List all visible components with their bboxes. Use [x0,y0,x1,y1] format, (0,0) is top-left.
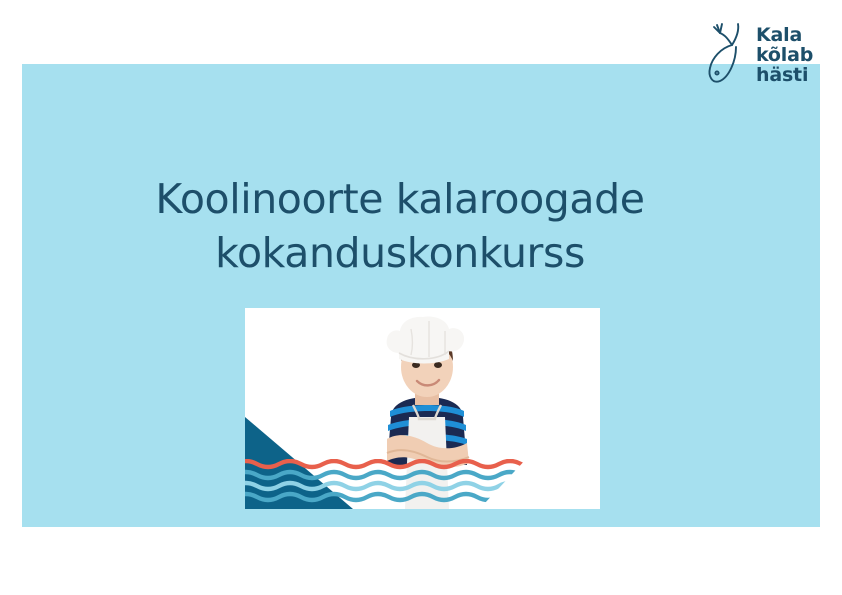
logo-line-2: kõlab [756,46,813,66]
wave-pattern [245,459,600,503]
page-title-line-1: Koolinoorte kalaroogade [90,172,710,226]
boy-chef-photo [245,308,600,509]
logo-line-3: hästi [756,66,813,86]
brand-logo-wordmark: Kala kõlab hästi [756,26,813,85]
photo-clip [245,308,600,509]
fish-fork-logo-icon [706,21,750,91]
brand-logo[interactable]: Kala kõlab hästi [706,18,814,94]
page-title: Koolinoorte kalaroogade kokanduskonkurss [90,172,710,280]
fish-outline-icon [552,451,598,495]
slide-canvas: Kala kõlab hästi Koolinoorte kalaroogade… [0,0,842,595]
page-title-line-2: kokanduskonkurss [90,226,710,280]
